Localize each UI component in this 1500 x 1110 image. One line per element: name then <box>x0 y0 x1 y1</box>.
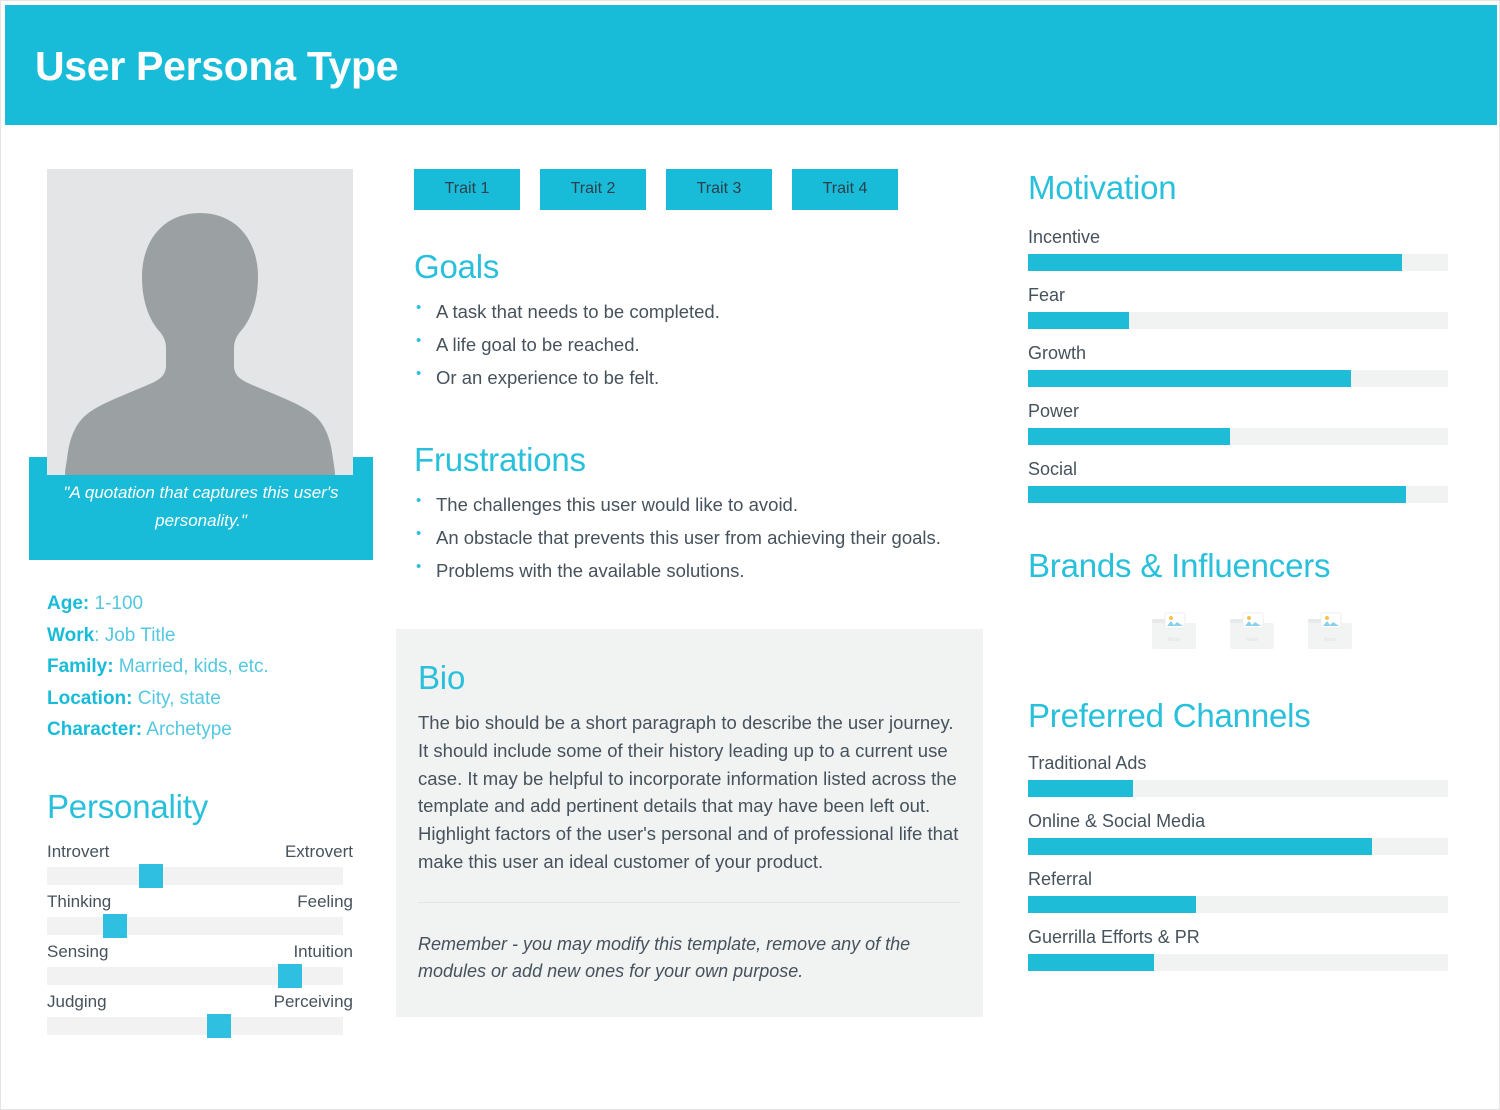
info-value: : Job Title <box>94 625 175 646</box>
frustrations-list: The challenges this user would like to a… <box>414 491 984 584</box>
trait-chip-3[interactable]: Trait 3 <box>666 169 772 210</box>
list-item: The challenges this user would like to a… <box>414 491 984 519</box>
personality-slider-handle[interactable] <box>278 964 302 988</box>
image-placeholder-icon: None <box>1228 609 1276 657</box>
bar-track <box>1028 954 1448 971</box>
goals-heading: Goals <box>414 248 984 286</box>
motivation-heading: Motivation <box>1028 169 1448 207</box>
bio-divider <box>418 902 961 903</box>
scale-left-label: Judging <box>47 992 107 1012</box>
bar-row: Growth <box>1028 343 1448 387</box>
svg-text:None: None <box>1246 637 1258 643</box>
list-item: A task that needs to be completed. <box>414 298 984 326</box>
goals-list: A task that needs to be completed. A lif… <box>414 298 984 391</box>
left-column: "A quotation that captures this user's p… <box>47 169 353 1035</box>
bio-panel: Bio The bio should be a short paragraph … <box>396 629 983 1017</box>
list-item: An obstacle that prevents this user from… <box>414 524 984 552</box>
frustrations-section: Frustrations The challenges this user wo… <box>414 441 984 584</box>
personality-scale-judging-perceiving: Judging Perceiving <box>47 992 353 1035</box>
bar-label: Incentive <box>1028 227 1448 248</box>
bar-track <box>1028 428 1448 445</box>
brand-placeholder-row: None None None <box>1028 609 1448 657</box>
personality-slider-handle[interactable] <box>103 914 127 938</box>
bio-heading: Bio <box>418 659 961 697</box>
personality-scale-sensing-intuition: Sensing Intuition <box>47 942 353 985</box>
bar-track <box>1028 312 1448 329</box>
right-column: Motivation Incentive Fear Growth <box>1028 169 1448 985</box>
bar-fill <box>1028 896 1196 913</box>
page-header: User Persona Type <box>5 5 1497 125</box>
trait-chip-row: Trait 1 Trait 2 Trait 3 Trait 4 <box>414 169 984 210</box>
bar-row: Guerrilla Efforts & PR <box>1028 927 1448 971</box>
persona-template-page: User Persona Type "A quotation that capt… <box>0 0 1500 1110</box>
bar-fill <box>1028 838 1372 855</box>
personality-scale-introvert-extrovert: Introvert Extrovert <box>47 842 353 885</box>
bar-row: Incentive <box>1028 227 1448 271</box>
personality-heading: Personality <box>47 788 353 826</box>
personality-section: Personality Introvert Extrovert Thinking… <box>47 788 353 1035</box>
user-silhouette-icon <box>47 169 353 475</box>
svg-text:None: None <box>1168 637 1180 643</box>
bar-fill <box>1028 780 1133 797</box>
bar-fill <box>1028 312 1129 329</box>
motivation-section: Motivation Incentive Fear Growth <box>1028 169 1448 503</box>
bar-fill <box>1028 428 1230 445</box>
bar-row: Social <box>1028 459 1448 503</box>
bar-track <box>1028 254 1448 271</box>
bar-label: Traditional Ads <box>1028 753 1448 774</box>
trait-chip-4[interactable]: Trait 4 <box>792 169 898 210</box>
info-row-age: Age: 1-100 <box>47 588 353 620</box>
bar-row: Power <box>1028 401 1448 445</box>
scale-right-label: Intuition <box>293 942 353 962</box>
channels-heading: Preferred Channels <box>1028 697 1448 735</box>
personality-slider-handle[interactable] <box>207 1014 231 1038</box>
personality-slider-track[interactable] <box>47 967 343 985</box>
avatar <box>47 169 353 475</box>
bar-fill <box>1028 370 1351 387</box>
bar-row: Fear <box>1028 285 1448 329</box>
image-placeholder-icon: None <box>1150 609 1198 657</box>
bar-track <box>1028 370 1448 387</box>
personality-slider-track[interactable] <box>47 917 343 935</box>
bar-label: Guerrilla Efforts & PR <box>1028 927 1448 948</box>
info-row-family: Family: Married, kids, etc. <box>47 651 353 683</box>
bar-fill <box>1028 954 1154 971</box>
demographics-list: Age: 1-100 Work: Job Title Family: Marri… <box>47 588 353 746</box>
list-item: Problems with the available solutions. <box>414 557 984 585</box>
info-value: City, state <box>133 688 221 709</box>
personality-slider-track[interactable] <box>47 1017 343 1035</box>
bar-row: Online & Social Media <box>1028 811 1448 855</box>
bio-note: Remember - you may modify this template,… <box>418 931 961 985</box>
bar-row: Traditional Ads <box>1028 753 1448 797</box>
info-label: Work <box>47 625 94 646</box>
motivation-bar-chart: Incentive Fear Growth <box>1028 227 1448 503</box>
bar-label: Social <box>1028 459 1448 480</box>
trait-chip-2[interactable]: Trait 2 <box>540 169 646 210</box>
quote-text: "A quotation that captures this user's p… <box>59 479 343 534</box>
info-row-location: Location: City, state <box>47 683 353 715</box>
info-value: 1-100 <box>89 593 143 614</box>
channels-section: Preferred Channels Traditional Ads Onlin… <box>1028 697 1448 971</box>
goals-section: Goals A task that needs to be completed.… <box>414 248 984 391</box>
scale-right-label: Extrovert <box>285 842 353 862</box>
middle-column: Trait 1 Trait 2 Trait 3 Trait 4 Goals A … <box>414 169 984 590</box>
bio-paragraph: The bio should be a short paragraph to d… <box>418 709 961 876</box>
list-item: A life goal to be reached. <box>414 331 984 359</box>
channels-bar-chart: Traditional Ads Online & Social Media Re… <box>1028 753 1448 971</box>
info-row-work: Work: Job Title <box>47 620 353 652</box>
bar-track <box>1028 896 1448 913</box>
svg-text:None: None <box>1324 637 1336 643</box>
info-value: Archetype <box>142 719 232 740</box>
bar-row: Referral <box>1028 869 1448 913</box>
trait-chip-1[interactable]: Trait 1 <box>414 169 520 210</box>
personality-slider-track[interactable] <box>47 867 343 885</box>
personality-slider-handle[interactable] <box>139 864 163 888</box>
image-placeholder-icon: None <box>1306 609 1354 657</box>
bar-label: Online & Social Media <box>1028 811 1448 832</box>
personality-scale-thinking-feeling: Thinking Feeling <box>47 892 353 935</box>
scale-right-label: Perceiving <box>274 992 353 1012</box>
bar-track <box>1028 780 1448 797</box>
bar-label: Power <box>1028 401 1448 422</box>
info-label: Family: <box>47 656 114 677</box>
info-label: Age: <box>47 593 89 614</box>
bar-label: Referral <box>1028 869 1448 890</box>
info-label: Location: <box>47 688 133 709</box>
scale-left-label: Sensing <box>47 942 108 962</box>
bar-label: Fear <box>1028 285 1448 306</box>
bar-label: Growth <box>1028 343 1448 364</box>
info-value: Married, kids, etc. <box>114 656 269 677</box>
bar-fill <box>1028 486 1406 503</box>
bar-track <box>1028 486 1448 503</box>
info-row-character: Character: Archetype <box>47 714 353 746</box>
info-label: Character: <box>47 719 142 740</box>
scale-left-label: Thinking <box>47 892 111 912</box>
frustrations-heading: Frustrations <box>414 441 984 479</box>
bar-fill <box>1028 254 1402 271</box>
brands-heading: Brands & Influencers <box>1028 547 1448 585</box>
scale-left-label: Introvert <box>47 842 109 862</box>
page-title: User Persona Type <box>35 43 398 90</box>
list-item: Or an experience to be felt. <box>414 364 984 392</box>
brands-section: Brands & Influencers None None <box>1028 547 1448 657</box>
bar-track <box>1028 838 1448 855</box>
scale-right-label: Feeling <box>297 892 353 912</box>
